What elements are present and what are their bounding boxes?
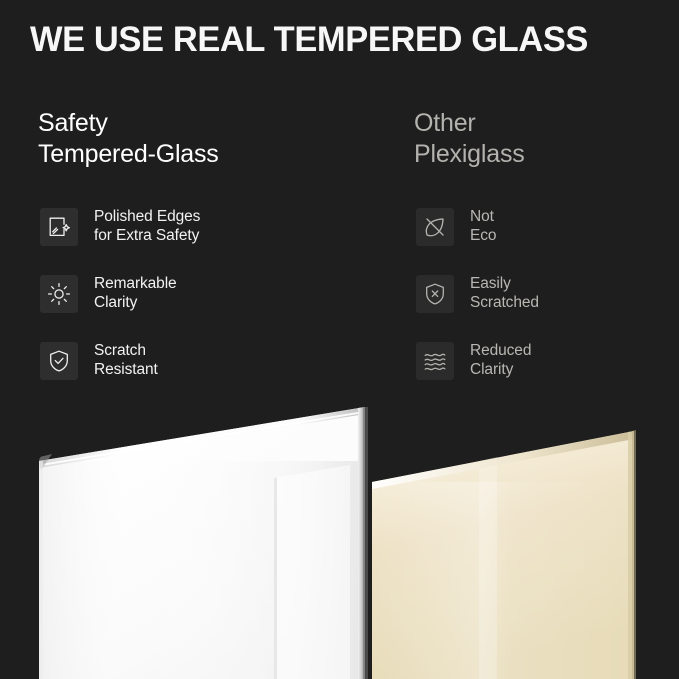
shield-x-icon <box>416 275 454 313</box>
glass-panels-photo <box>0 398 679 679</box>
tempered-glass-panel <box>39 407 368 679</box>
column-heading-left: Safety Tempered-Glass <box>38 108 378 170</box>
feature-label: Remarkable Clarity <box>94 273 177 312</box>
feature-item: Remarkable Clarity <box>40 273 380 340</box>
feature-item: Reduced Clarity <box>416 340 676 407</box>
feature-list-right: Not Eco Easily Scratched <box>416 206 676 407</box>
feature-label: Reduced Clarity <box>470 340 531 379</box>
page-title: WE USE REAL TEMPERED GLASS <box>30 20 651 60</box>
shield-check-icon <box>40 342 78 380</box>
feature-label: Polished Edges for Extra Safety <box>94 206 200 245</box>
plexiglass-panel <box>372 430 636 679</box>
column-plexiglass: Other Plexiglass Not Eco <box>414 108 674 170</box>
feature-item: Scratch Resistant <box>40 340 380 407</box>
feature-list-left: Polished Edges for Extra Safety Remarkab… <box>40 206 380 407</box>
feature-item: Not Eco <box>416 206 676 273</box>
polished-square-sparkle-icon <box>40 208 78 246</box>
column-heading-right: Other Plexiglass <box>414 108 674 170</box>
feature-item: Polished Edges for Extra Safety <box>40 206 380 273</box>
feature-label: Scratch Resistant <box>94 340 158 379</box>
feature-label: Easily Scratched <box>470 273 539 312</box>
wavy-lines-icon <box>416 342 454 380</box>
feature-item: Easily Scratched <box>416 273 676 340</box>
column-tempered-glass: Safety Tempered-Glass Polished Edges for… <box>38 108 378 170</box>
sun-clarity-icon <box>40 275 78 313</box>
glass-panels-illustration <box>0 398 679 679</box>
comparison-infographic: WE USE REAL TEMPERED GLASS Safety Temper… <box>0 0 679 679</box>
feature-label: Not Eco <box>470 206 496 245</box>
leaf-slash-icon <box>416 208 454 246</box>
